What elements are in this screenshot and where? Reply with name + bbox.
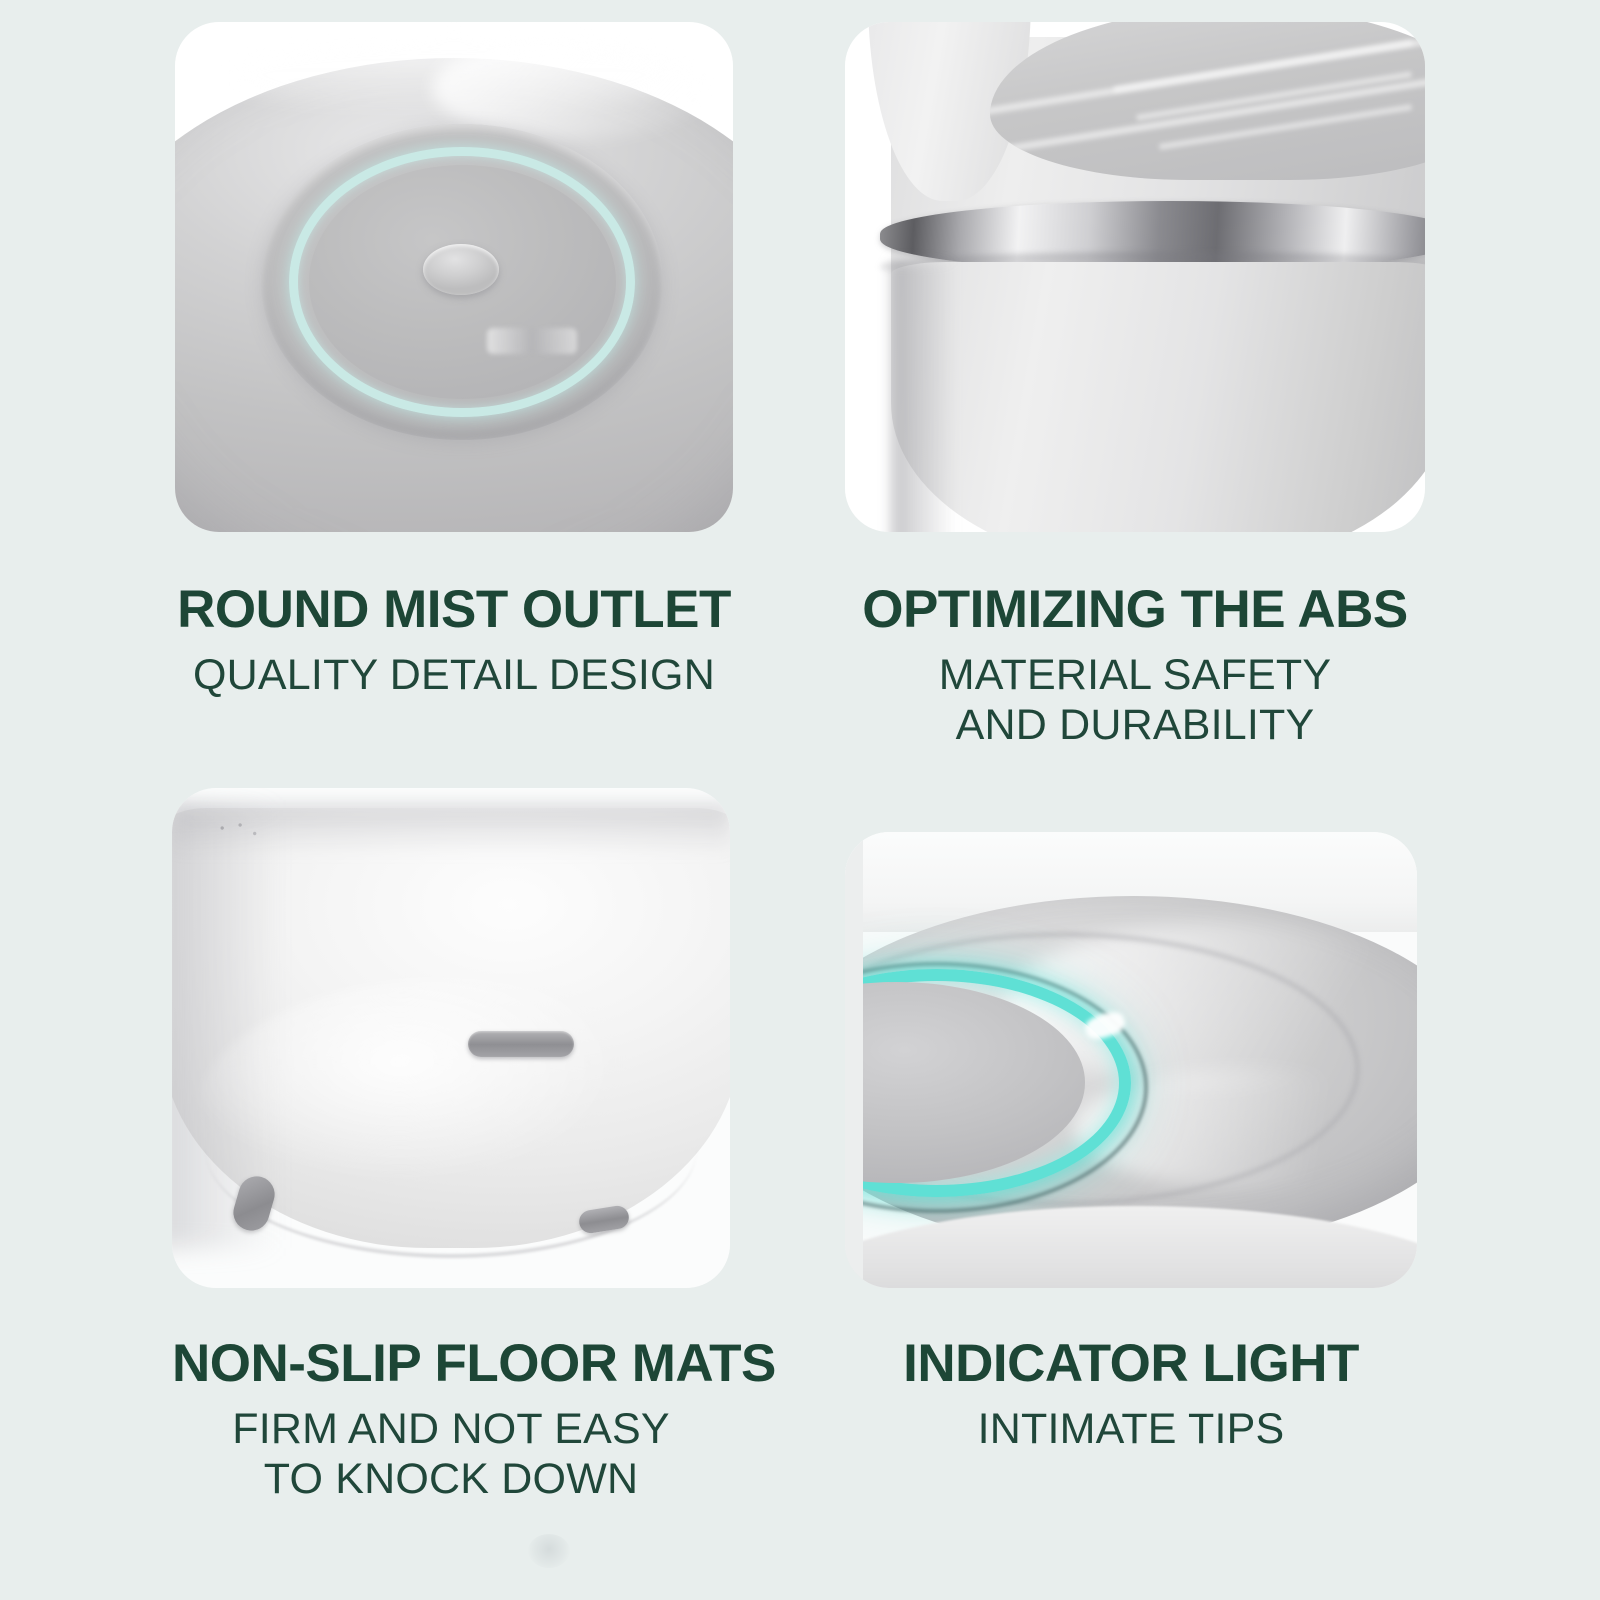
feature-image-indicator-light xyxy=(845,832,1417,1288)
feature-title: OPTIMIZING THE ABS xyxy=(845,582,1425,637)
caption-round-mist-outlet: ROUND MIST OUTLET QUALITY DETAIL DESIGN xyxy=(175,582,733,701)
humidifier-abs-body-photo xyxy=(845,22,1425,532)
feature-non-slip-floor-mats: NON-SLIP FLOOR MATS FIRM AND NOT EASY TO… xyxy=(172,788,730,1505)
feature-subtitle: QUALITY DETAIL DESIGN xyxy=(175,651,733,701)
feature-subtitle-line-1: MATERIAL SAFETY xyxy=(845,651,1425,701)
feature-subtitle: MATERIAL SAFETY AND DURABILITY xyxy=(845,651,1425,751)
feature-image-round-mist-outlet xyxy=(175,22,733,532)
base-bottom-rim xyxy=(205,1148,696,1258)
feature-round-mist-outlet: ROUND MIST OUTLET QUALITY DETAIL DESIGN xyxy=(175,22,733,701)
device-lower-shell xyxy=(891,262,1425,532)
photo-left-edge xyxy=(845,832,863,1288)
anti-slip-pad-center xyxy=(468,1031,574,1057)
humidifier-indicator-light-photo xyxy=(845,832,1417,1288)
feature-image-optimizing-the-abs xyxy=(845,22,1425,532)
feature-title: NON-SLIP FLOOR MATS xyxy=(172,1336,730,1391)
caption-optimizing-the-abs: OPTIMIZING THE ABS MATERIAL SAFETY AND D… xyxy=(845,582,1425,751)
feature-title: INDICATOR LIGHT xyxy=(845,1336,1417,1391)
lower-shell-edge-shade xyxy=(891,262,955,532)
center-nub xyxy=(423,244,498,295)
product-feature-grid-page: ROUND MIST OUTLET QUALITY DETAIL DESIGN … xyxy=(0,0,1600,1600)
feature-subtitle: FIRM AND NOT EASY TO KNOCK DOWN xyxy=(172,1405,730,1505)
embossed-marking xyxy=(487,328,576,354)
feature-subtitle: INTIMATE TIPS xyxy=(845,1405,1417,1455)
feature-image-non-slip-floor-mats xyxy=(172,788,730,1288)
faint-watermark xyxy=(528,1534,570,1568)
humidifier-base-photo xyxy=(172,788,730,1288)
feature-indicator-light: INDICATOR LIGHT INTIMATE TIPS xyxy=(845,832,1417,1455)
feature-subtitle-line-2: AND DURABILITY xyxy=(845,701,1425,751)
ribbed-lid xyxy=(990,22,1425,180)
feature-subtitle-line-1: FIRM AND NOT EASY xyxy=(172,1405,730,1455)
base-specks xyxy=(211,818,267,843)
humidifier-mist-outlet-photo xyxy=(175,22,733,532)
caption-non-slip-floor-mats: NON-SLIP FLOOR MATS FIRM AND NOT EASY TO… xyxy=(172,1336,730,1505)
feature-subtitle-line-2: TO KNOCK DOWN xyxy=(172,1455,730,1505)
caption-indicator-light: INDICATOR LIGHT INTIMATE TIPS xyxy=(845,1336,1417,1455)
feature-title: ROUND MIST OUTLET xyxy=(175,582,733,637)
feature-optimizing-the-abs: OPTIMIZING THE ABS MATERIAL SAFETY AND D… xyxy=(845,22,1425,751)
